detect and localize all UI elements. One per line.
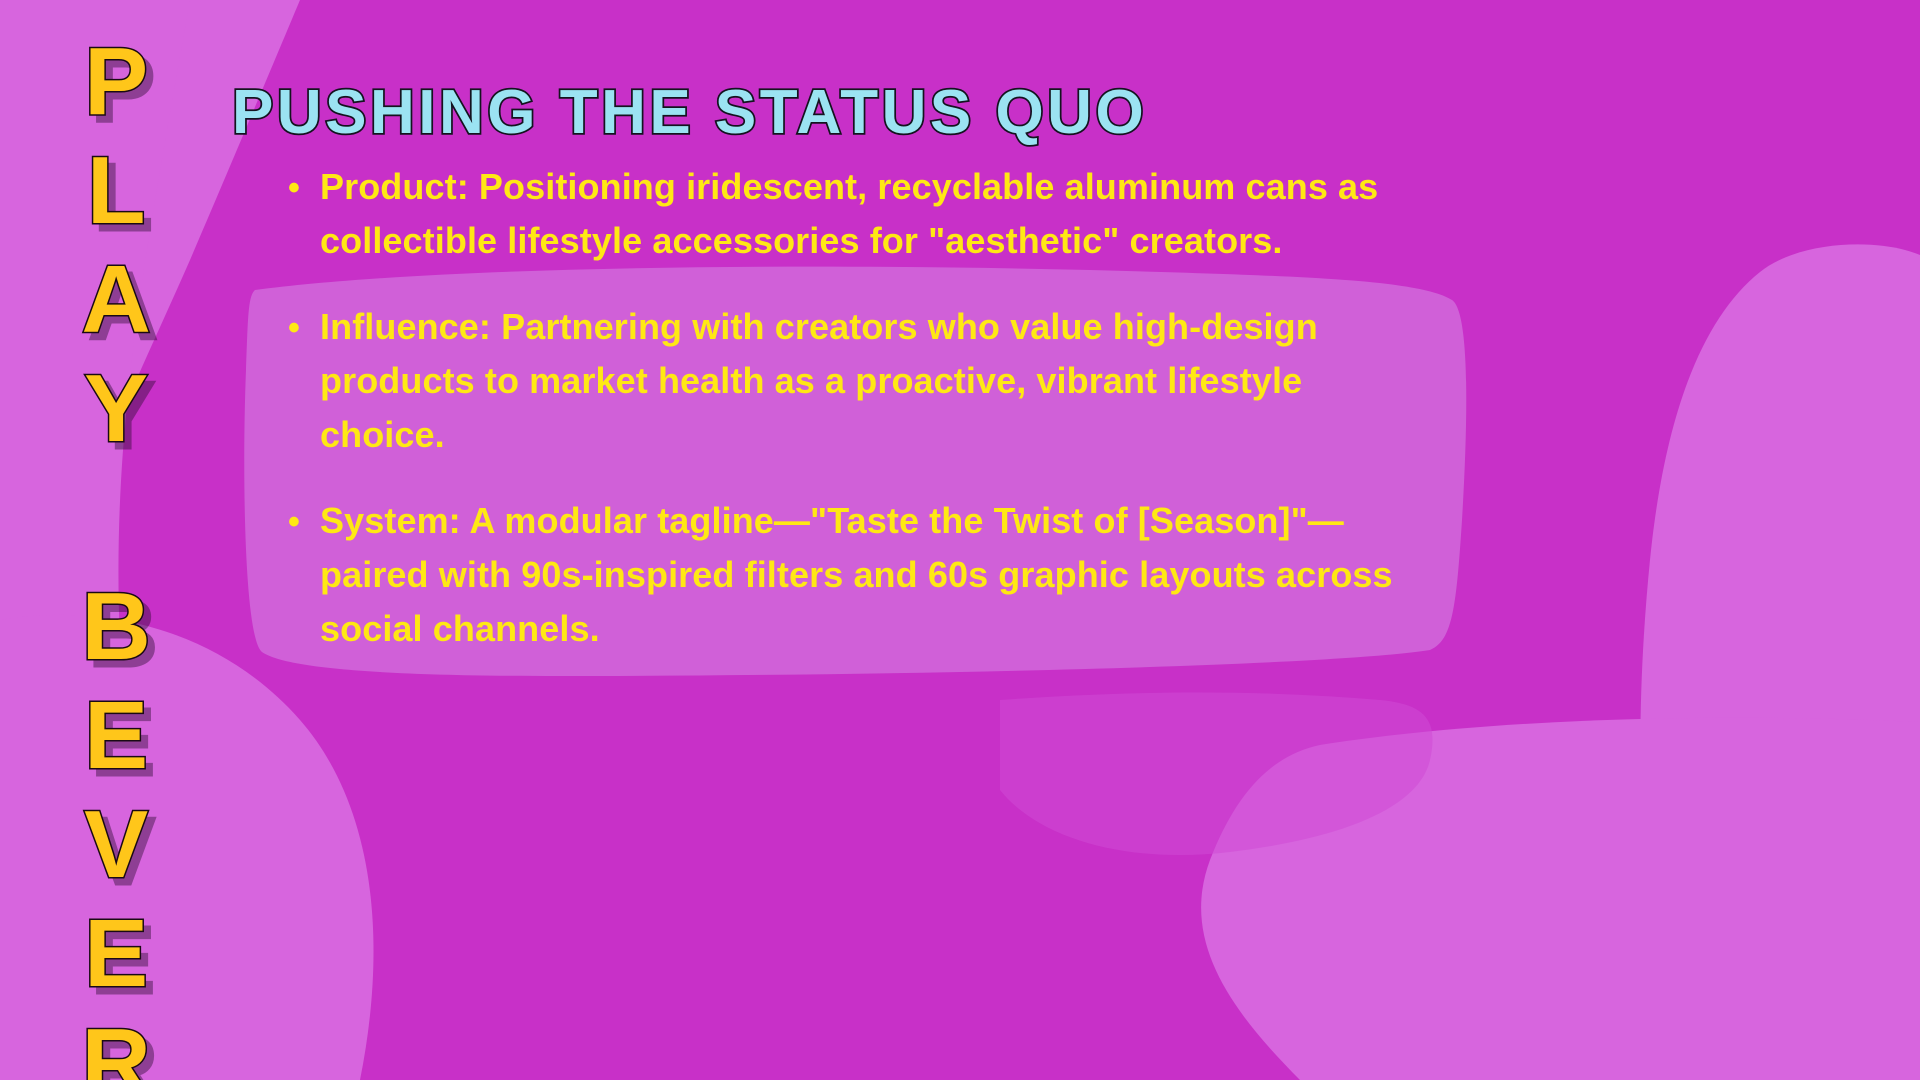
bullet-dot-icon: • — [288, 160, 320, 216]
list-item: • System: A modular tagline—"Taste the T… — [288, 494, 1428, 656]
bullet-influence-text: Influence: Partnering with creators who … — [320, 300, 1428, 462]
bullet-list: • Product: Positioning iridescent, recyc… — [288, 160, 1428, 688]
bullet-system-text: System: A modular tagline—"Taste the Twi… — [320, 494, 1428, 656]
list-item: • Influence: Partnering with creators wh… — [288, 300, 1428, 462]
page-title: PUSHING THE STATUS QUO — [232, 82, 1147, 144]
slide-canvas: PLAY BEVERAGE CO. PUSHING THE STATUS QUO… — [0, 0, 1920, 1080]
bullet-dot-icon: • — [288, 494, 320, 550]
list-item: • Product: Positioning iridescent, recyc… — [288, 160, 1428, 268]
bullet-dot-icon: • — [288, 300, 320, 356]
bullet-product-text: Product: Positioning iridescent, recycla… — [320, 160, 1428, 268]
